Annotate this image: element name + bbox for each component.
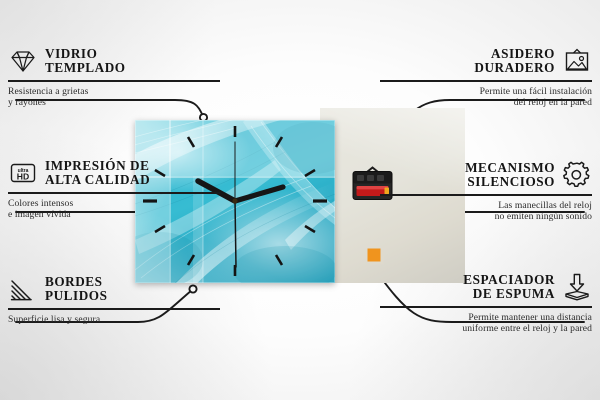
- svg-text:HD: HD: [17, 172, 29, 182]
- feature-header: MECANISMO SILENCIOSO: [380, 160, 592, 190]
- feature-title: ASIDERO DURADERO: [474, 47, 555, 75]
- gear-icon: [562, 160, 592, 190]
- polished-edges-icon: [8, 274, 38, 304]
- divider: [380, 194, 592, 196]
- foam-spacer: [367, 248, 384, 265]
- feature-title: BORDES PULIDOS: [45, 275, 107, 303]
- feature-description: Superficie lisa y segura: [8, 314, 220, 325]
- feature-mecanismo-silencioso: MECANISMO SILENCIOSO Las manecillas del …: [380, 160, 592, 222]
- infographic-canvas: VIDRIO TEMPLADO Resistencia a grietas y …: [0, 0, 600, 400]
- feature-header: ASIDERO DURADERO: [380, 46, 592, 76]
- feature-description: Permite mantener una distancia uniforme …: [380, 312, 592, 334]
- divider: [380, 306, 592, 308]
- feature-description: Permite una fácil instalación del reloj …: [380, 86, 592, 108]
- divider: [8, 80, 220, 82]
- feature-asidero-duradero: ASIDERO DURADERO Permite una fácil insta…: [380, 46, 592, 108]
- feature-title: IMPRESIÓN DE ALTA CALIDAD: [45, 159, 150, 187]
- divider: [8, 308, 220, 310]
- feature-espaciador-espuma: ESPACIADOR DE ESPUMA Permite mantener un…: [380, 272, 592, 334]
- feature-title: VIDRIO TEMPLADO: [45, 47, 126, 75]
- feature-header: ESPACIADOR DE ESPUMA: [380, 272, 592, 302]
- feature-vidrio-templado: VIDRIO TEMPLADO Resistencia a grietas y …: [8, 46, 220, 108]
- ultra-hd-badge-icon: ultra HD: [8, 158, 38, 188]
- feature-title: ESPACIADOR DE ESPUMA: [463, 273, 555, 301]
- divider: [8, 192, 220, 194]
- press-down-foam-icon: [562, 272, 592, 302]
- picture-frame-hanger-icon: [562, 46, 592, 76]
- feature-bordes-pulidos: BORDES PULIDOS Superficie lisa y segura: [8, 274, 220, 325]
- feature-description: Colores intensos e imagen vívida: [8, 198, 220, 220]
- feature-title: MECANISMO SILENCIOSO: [465, 161, 555, 189]
- feature-impresion-alta-calidad: ultra HD IMPRESIÓN DE ALTA CALIDAD Color…: [8, 158, 220, 220]
- feature-description: Resistencia a grietas y rayones: [8, 86, 220, 108]
- feature-header: ultra HD IMPRESIÓN DE ALTA CALIDAD: [8, 158, 220, 188]
- feature-header: VIDRIO TEMPLADO: [8, 46, 220, 76]
- feature-header: BORDES PULIDOS: [8, 274, 220, 304]
- divider: [380, 80, 592, 82]
- feature-description: Las manecillas del reloj no emiten ningú…: [380, 200, 592, 222]
- diamond-icon: [8, 46, 38, 76]
